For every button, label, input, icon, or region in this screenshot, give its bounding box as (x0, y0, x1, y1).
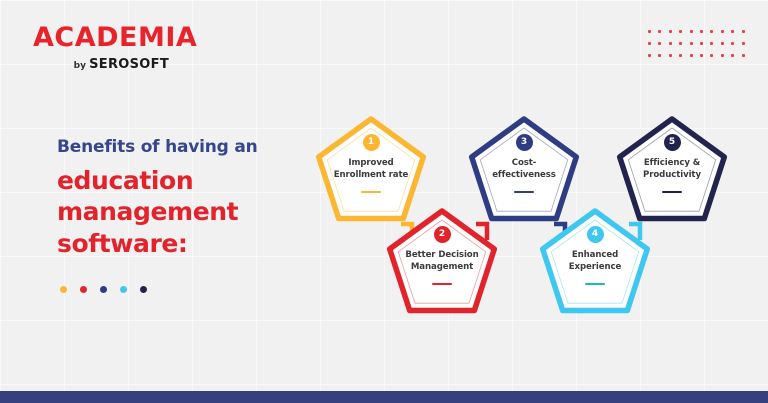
benefit-divider-dash (662, 191, 682, 194)
dot-darknavy (140, 286, 147, 293)
benefit-label-line-2: Productivity (622, 170, 722, 182)
benefit-card-5[interactable]: 5Efficiency &Productivity (613, 114, 731, 226)
benefits-cluster: 1ImprovedEnrollment rate 2Better Decisio… (300, 100, 768, 350)
infographic-canvas: ACADEMIA by SEROSOFT Benefits of having … (0, 0, 768, 403)
benefit-label-line-1: Cost- (474, 158, 574, 170)
grid-dot (690, 30, 693, 33)
dot-red (80, 286, 87, 293)
grid-dot (648, 54, 651, 57)
grid-dot (721, 42, 724, 45)
footer-bar (0, 391, 768, 403)
logo-by-text: by (74, 61, 89, 71)
benefit-label-line-2: Experience (545, 262, 645, 274)
benefit-label: Better DecisionManagement (392, 250, 492, 274)
grid-dot (658, 54, 661, 57)
benefit-number-badge: 5 (664, 134, 681, 151)
grid-dot (731, 42, 734, 45)
benefit-number-badge: 4 (587, 226, 604, 243)
benefit-divider-dash (432, 283, 452, 286)
dot-cyan (120, 286, 127, 293)
dot-amber (60, 286, 67, 293)
benefit-label: EnhancedExperience (545, 250, 645, 274)
grid-dot (700, 42, 703, 45)
benefit-content: 5Efficiency &Productivity (613, 114, 731, 226)
grid-dot (658, 42, 661, 45)
grid-dot (731, 30, 734, 33)
benefit-label-line-2: Management (392, 262, 492, 274)
grid-dot (679, 42, 682, 45)
benefit-number-badge: 1 (363, 134, 380, 151)
logo-subline: by SEROSOFT (33, 56, 169, 72)
grid-dot (721, 54, 724, 57)
headline-title-line-1: education (57, 165, 287, 197)
benefit-divider-dash (514, 191, 534, 194)
grid-dot (710, 42, 713, 45)
benefit-number-badge: 2 (434, 226, 451, 243)
grid-dot (648, 42, 651, 45)
grid-dot (700, 54, 703, 57)
grid-dot (710, 30, 713, 33)
benefit-label: ImprovedEnrollment rate (321, 158, 421, 182)
grid-dot (658, 30, 661, 33)
benefit-label-line-1: Efficiency & (622, 158, 722, 170)
headline-block: Benefits of having an education manageme… (57, 138, 287, 259)
headline-title: education management software: (57, 165, 287, 260)
benefit-label-line-2: Enrollment rate (321, 170, 421, 182)
benefit-label: Cost-effectiveness (474, 158, 574, 182)
decorative-dot-grid-icon (648, 30, 752, 66)
accent-dot-row (60, 286, 147, 293)
grid-dot (742, 54, 745, 57)
grid-dot (690, 54, 693, 57)
logo-wordmark: ACADEMIA (33, 24, 223, 51)
logo-parent-brand: SEROSOFT (89, 57, 169, 72)
benefit-number-badge: 3 (516, 134, 533, 151)
benefit-label-line-1: Improved (321, 158, 421, 170)
headline-title-line-3: software: (57, 228, 287, 260)
grid-dot (731, 54, 734, 57)
grid-dot (700, 30, 703, 33)
grid-dot (669, 54, 672, 57)
grid-dot (742, 42, 745, 45)
headline-eyebrow: Benefits of having an (57, 138, 287, 158)
grid-dot (679, 30, 682, 33)
grid-dot (648, 30, 651, 33)
benefit-divider-dash (361, 191, 381, 194)
headline-title-line-2: management (57, 196, 287, 228)
benefit-label-line-1: Enhanced (545, 250, 645, 262)
grid-dot (742, 30, 745, 33)
grid-dot (710, 54, 713, 57)
grid-dot (690, 42, 693, 45)
benefit-divider-dash (585, 283, 605, 286)
benefit-label: Efficiency &Productivity (622, 158, 722, 182)
grid-dot (669, 30, 672, 33)
brand-logo: ACADEMIA by SEROSOFT (33, 24, 223, 72)
grid-dot (669, 42, 672, 45)
grid-dot (721, 30, 724, 33)
benefit-label-line-2: effectiveness (474, 170, 574, 182)
dot-navy (100, 286, 107, 293)
benefit-label-line-1: Better Decision (392, 250, 492, 262)
grid-dot (679, 54, 682, 57)
